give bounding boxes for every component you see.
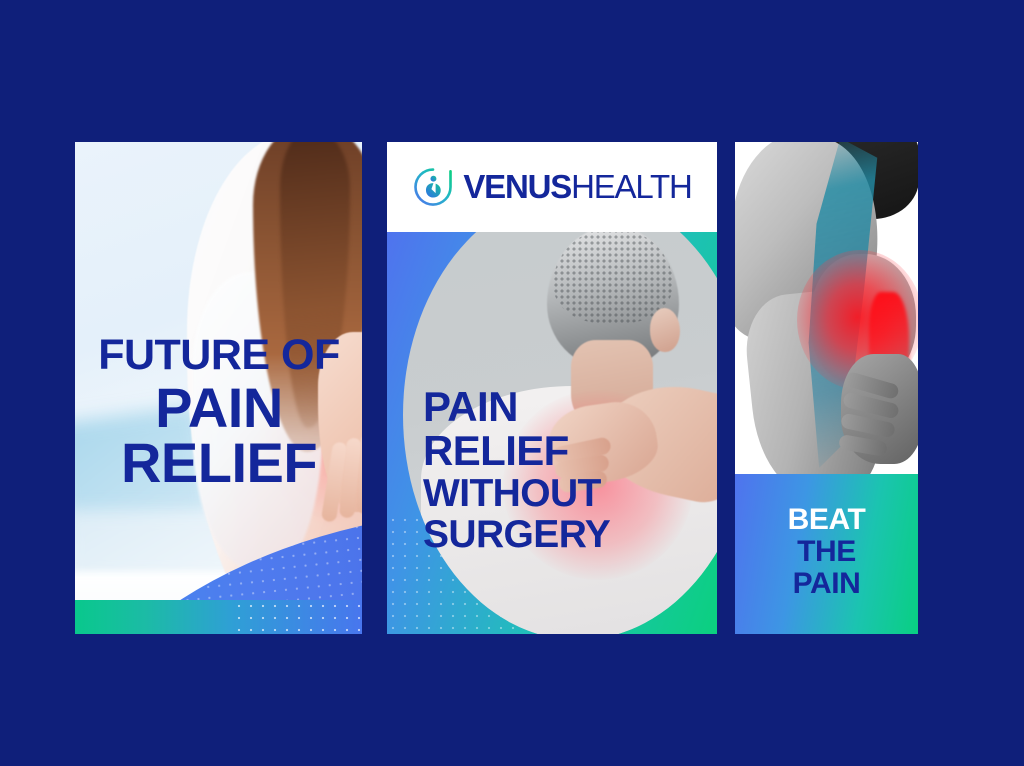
knee-pain-photo [735,142,918,474]
panel1-headline: FUTURE OF PAIN RELIEF [93,336,345,489]
headline-line-3: PAIN [735,568,918,600]
headline-line-1: BEAT [735,504,918,536]
panel2-headline: PAIN RELIEF WITHOUT SURGERY [423,386,610,556]
logo-word-health: HEALTH [571,168,692,205]
headline-line-3: WITHOUT [423,474,610,513]
poster-panel-beat-the-pain[interactable]: BEAT THE PAIN [735,142,918,634]
headline-line-1: FUTURE OF [93,336,345,376]
headline-line-2: PAIN [93,382,345,434]
headline-line-2: RELIEF [423,430,610,472]
headline-line-3: RELIEF [93,437,345,489]
man-ear [650,308,680,352]
poster-panel-pain-relief-without-surgery[interactable]: VENUSHEALTH PAIN RELIEF [387,142,717,634]
venus-health-circle-person-logo-icon [412,166,454,208]
headline-line-1: PAIN [423,386,610,428]
logo-wordmark: VENUSHEALTH [463,168,691,206]
venus-health-logo[interactable]: VENUSHEALTH [412,166,691,208]
panel3-headline: BEAT THE PAIN [735,474,918,599]
logo-header-band: VENUSHEALTH [387,142,717,232]
poster-panel-future-of-pain-relief[interactable]: FUTURE OF PAIN RELIEF [75,142,362,634]
headline-line-4: SURGERY [423,515,610,554]
panel3-gradient-block: BEAT THE PAIN [735,474,918,634]
headline-line-2: THE [735,536,918,568]
logo-word-venus: VENUS [463,168,571,205]
accent-bar-dot-pattern [233,600,362,634]
poster-collage-canvas: FUTURE OF PAIN RELIEF [0,0,1024,766]
man-hair-texture [553,232,673,323]
